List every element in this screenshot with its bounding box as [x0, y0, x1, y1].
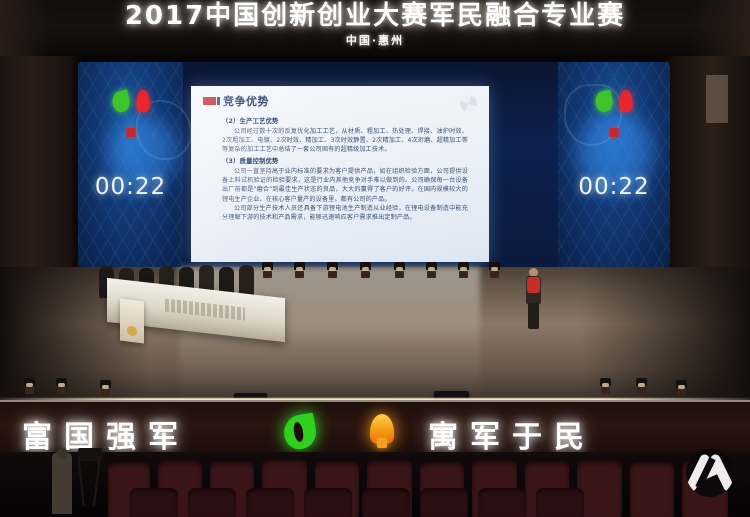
right-side-screen: 00:22	[558, 62, 670, 267]
event-title: 2017中国创新创业大赛军民融合专业赛	[125, 1, 625, 31]
left-screen-badge	[126, 128, 135, 137]
stage-front-led-banner: 富国强军 寓军于民	[0, 400, 750, 460]
audience-seat	[536, 488, 584, 517]
header-led-band: 2017中国创新创业大赛军民融合专业赛 中国·惠州	[0, 0, 750, 56]
camera-operator-head	[57, 448, 68, 459]
header-left-vignette	[0, 0, 52, 56]
left-screen-logos	[112, 90, 149, 112]
leaf-logo-icon	[594, 89, 615, 113]
camera-operator	[52, 452, 72, 514]
presenter	[525, 268, 542, 330]
torch-logo-icon	[136, 90, 149, 112]
moving-head-light	[327, 262, 338, 278]
moving-head-light	[394, 262, 405, 278]
front-edge-light	[636, 378, 647, 394]
speaker-podium	[120, 299, 144, 344]
conference-hall-photo: 2017中国创新创业大赛军民融合专业赛 中国·惠州 00:22	[0, 0, 750, 517]
slide-section-heading: （2）生产工艺优势	[222, 117, 468, 126]
leaf-logo-icon	[110, 89, 131, 113]
slide-section-heading: （3）质量控制优势	[222, 157, 468, 166]
wall-poster	[706, 75, 728, 123]
front-edge-light	[24, 378, 35, 394]
torch-logo-icon	[620, 90, 633, 112]
presenter-red-sash	[527, 277, 540, 293]
slide-section-text: 公司部分生产技术人员还具备下游锂电池生产制造从业经验，在锂电设备制造中能充分理解…	[222, 204, 468, 222]
audience-seat	[188, 488, 236, 517]
right-screen-badge	[610, 128, 619, 137]
judges-table-banner-text	[165, 298, 245, 320]
audience-seat	[130, 488, 178, 517]
podium-emblem-icon	[127, 325, 137, 336]
audience-seat	[362, 488, 410, 517]
moving-head-light	[294, 262, 305, 278]
slide-title: 竞争优势	[223, 93, 269, 109]
presentation-slide: 竞争优势 （2）生产工艺优势 公司经过数十次的反复优化加工工艺，从材质、粗加工、…	[191, 86, 489, 262]
audience-seat	[246, 488, 294, 517]
moving-head-light	[426, 262, 437, 278]
front-edge-light	[100, 380, 111, 396]
audience-seat	[304, 488, 352, 517]
presenter-legs	[528, 303, 539, 329]
slide-section-text: 公司经过数十次的反复优化加工工艺，从材质、粗加工、热处理、焊接、油炉时效、2次粗…	[222, 127, 468, 154]
circle-s-watermark-icon	[686, 449, 734, 497]
front-edge-light	[676, 380, 687, 396]
moving-head-light	[360, 262, 371, 278]
audience-seat	[420, 488, 468, 517]
event-subtitle: 中国·惠州	[346, 32, 404, 48]
slide-accent-bar-red	[203, 97, 216, 105]
banner-slogan-left: 富国强军	[22, 412, 190, 456]
audience-seat	[630, 462, 674, 517]
audience-seat	[478, 488, 526, 517]
slide-watermark-icon	[460, 95, 477, 112]
front-edge-light	[56, 378, 67, 394]
right-screen-logos	[596, 90, 633, 112]
slide-section-text: 公司一直坚持高于业内标准的要求为客户提供产品，如在组织检验方面，公司提供设备上料…	[222, 167, 468, 203]
left-side-screen: 00:22	[78, 62, 183, 267]
right-countdown-timer: 00:22	[578, 174, 649, 200]
left-countdown-timer: 00:22	[95, 174, 166, 200]
slide-body: （2）生产工艺优势 公司经过数十次的反复优化加工工艺，从材质、粗加工、热处理、焊…	[222, 114, 468, 222]
header-right-vignette	[690, 0, 750, 56]
moving-head-light	[458, 262, 469, 278]
moving-head-light	[489, 262, 500, 278]
slide-accent-bar-blue	[217, 97, 220, 105]
audience-seating	[0, 452, 750, 517]
front-edge-light	[600, 378, 611, 394]
banner-slogan-right: 寓军于民	[428, 412, 596, 456]
torch-logo-stem	[377, 438, 387, 448]
